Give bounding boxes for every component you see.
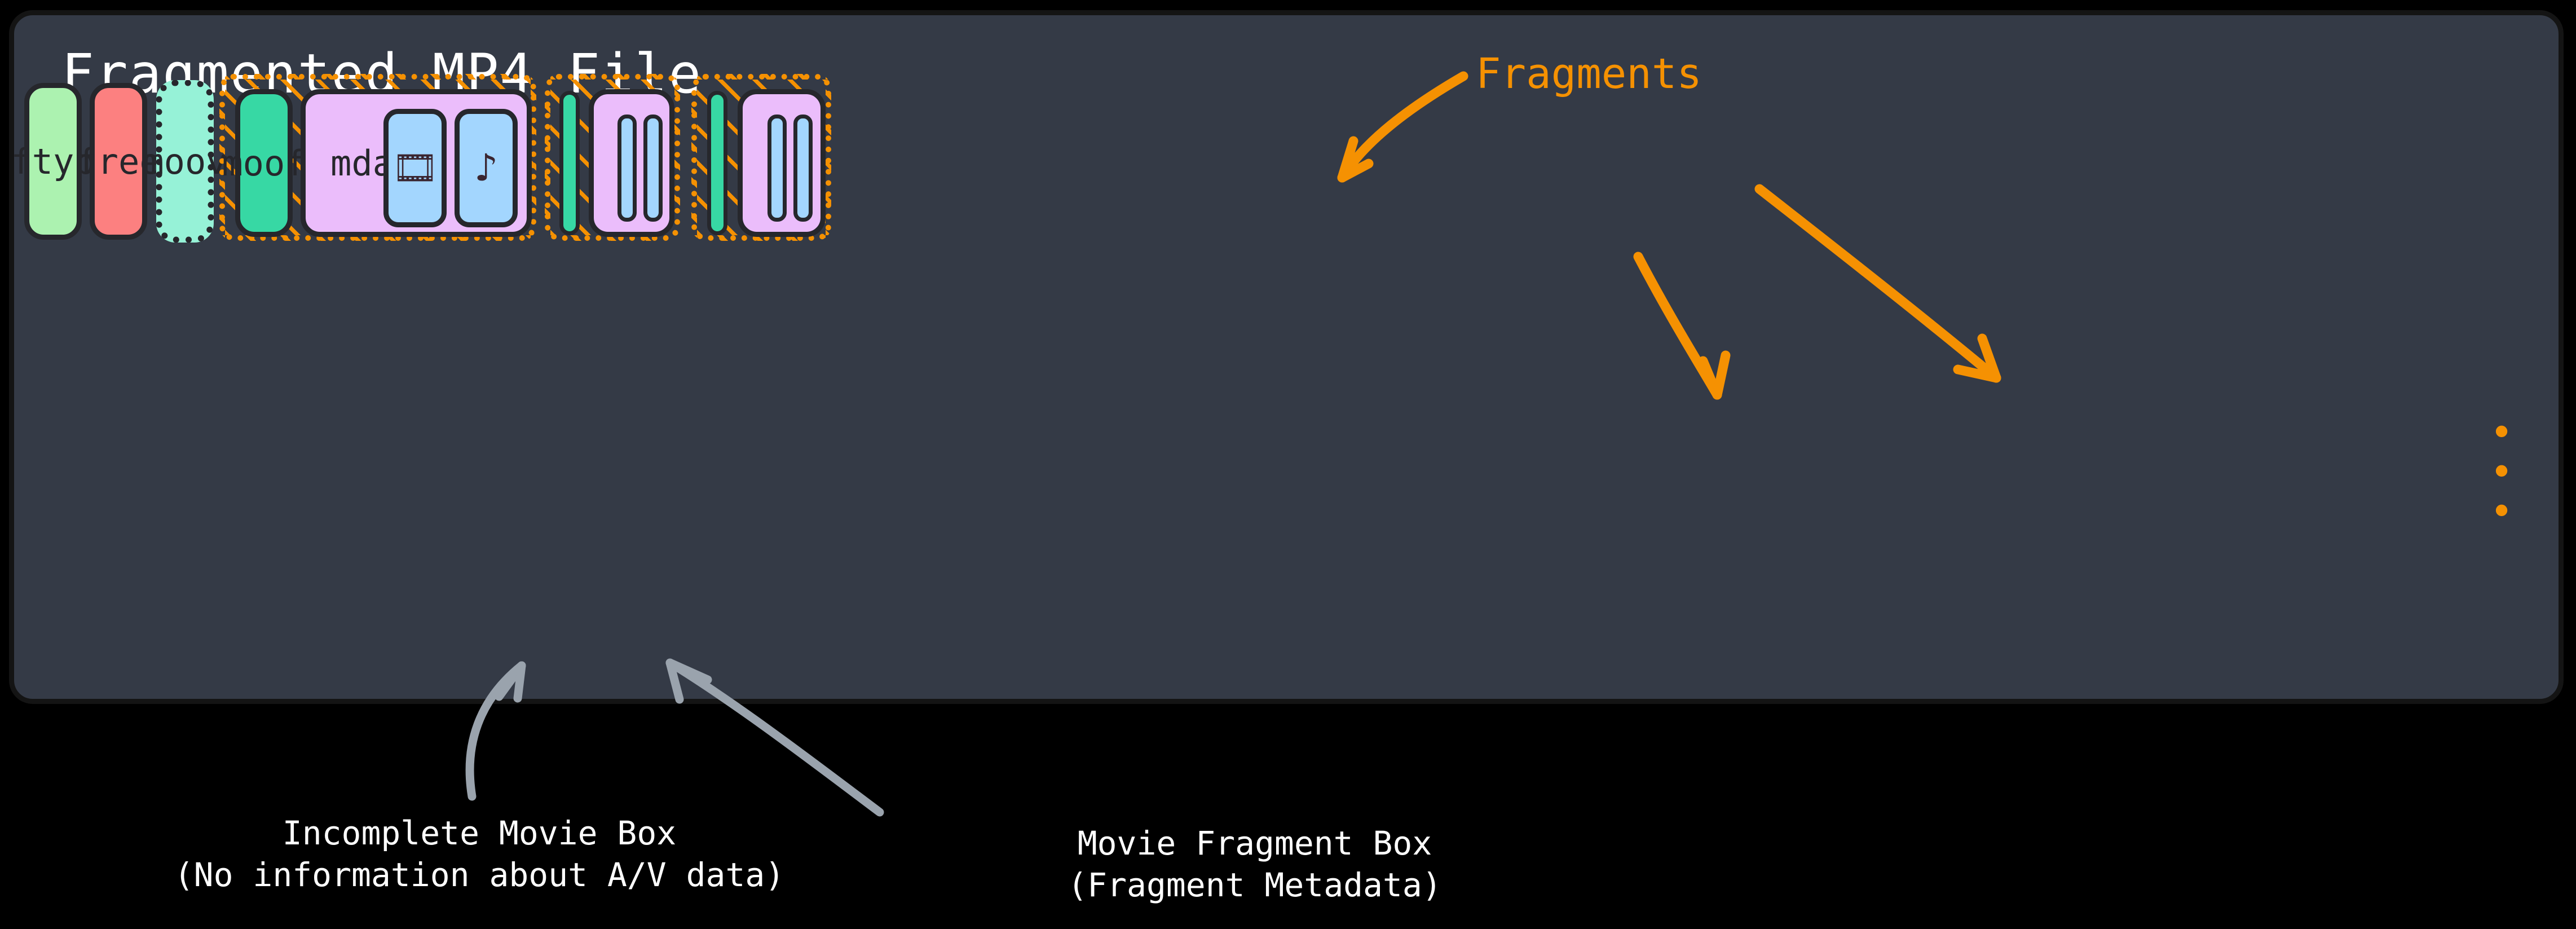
fragment-1-media-video[interactable]: 🎞 bbox=[383, 109, 447, 227]
fragment-3-box-mdat[interactable] bbox=[738, 89, 826, 237]
box-ftyp[interactable]: ftyp bbox=[24, 83, 82, 240]
box-free[interactable]: free bbox=[90, 83, 147, 240]
annotation-incomplete-movie-box: Incomplete Movie Box (No information abo… bbox=[85, 812, 874, 896]
annotation-movie-fragment-box: Movie Fragment Box (Fragment Metadata) bbox=[925, 822, 1585, 906]
box-moov[interactable]: moov bbox=[156, 80, 214, 243]
fragmented-mp4-file-container: Fragmented MP4 File ftyp free moov moof … bbox=[9, 10, 2564, 704]
fragment-2-media-video[interactable] bbox=[617, 115, 637, 222]
fragment-1-box-moof[interactable]: moof bbox=[235, 89, 293, 237]
fragment-3-media-video[interactable] bbox=[767, 115, 787, 222]
fragment-1-box-mdat[interactable]: mdat 🎞 ♪ bbox=[301, 89, 532, 237]
continuation-ellipsis: • • • bbox=[2490, 413, 2559, 531]
fragment-2-media-audio[interactable] bbox=[643, 115, 663, 222]
fragment-2[interactable] bbox=[545, 74, 680, 241]
fragment-1-media-audio[interactable]: ♪ bbox=[455, 109, 518, 227]
video-icon: 🎞 bbox=[391, 149, 439, 187]
fragment-3-media-audio[interactable] bbox=[793, 115, 813, 222]
fragment-1-moof-label: moof bbox=[222, 143, 306, 184]
box-moov-label: moov bbox=[143, 141, 227, 182]
fragment-2-box-moof[interactable] bbox=[559, 91, 580, 235]
fragment-2-box-mdat[interactable] bbox=[589, 89, 674, 237]
fragment-3-box-moof[interactable] bbox=[707, 91, 727, 235]
fragment-3[interactable] bbox=[691, 74, 831, 241]
fragment-1[interactable]: moof mdat 🎞 ♪ bbox=[219, 74, 536, 241]
audio-icon: ♪ bbox=[474, 149, 498, 187]
fragments-label: Fragments bbox=[1476, 50, 1702, 98]
